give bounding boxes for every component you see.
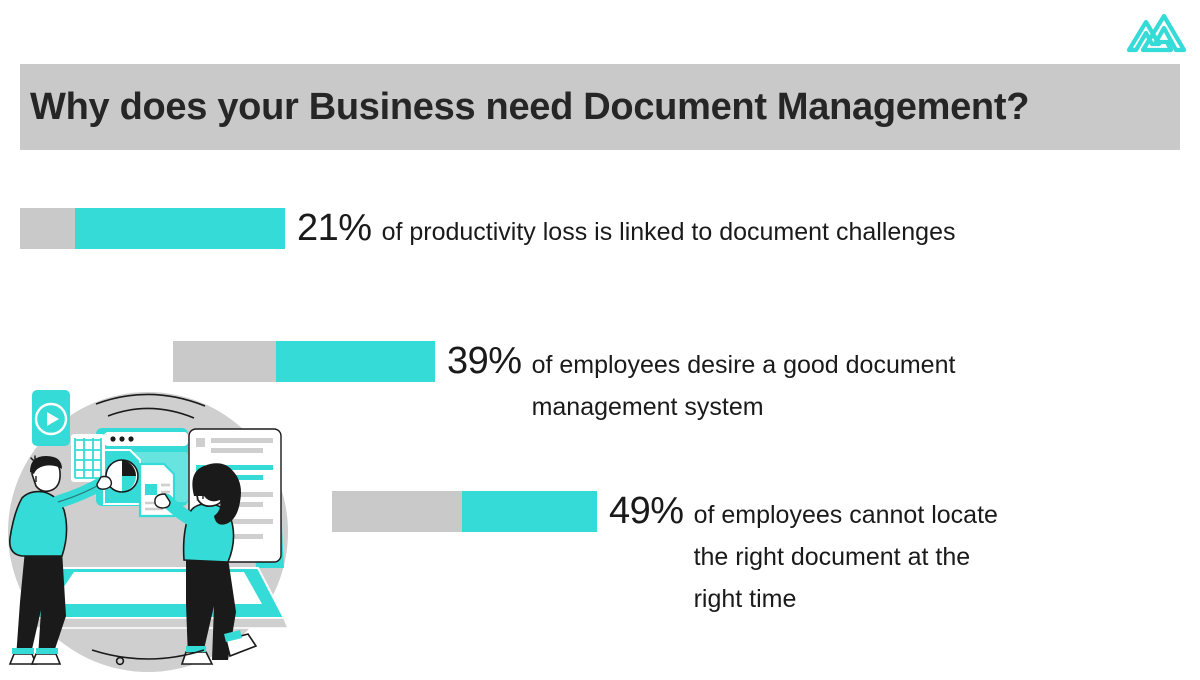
illustration-svg: [0, 372, 300, 675]
page-title: Why does your Business need Document Man…: [20, 86, 1029, 129]
grid-table-icon: [71, 434, 105, 482]
bar-segment-gray: [20, 208, 75, 249]
stat-percent: 39%: [447, 341, 522, 382]
browser-dot: [110, 436, 115, 441]
browser-dot: [128, 436, 133, 441]
team-document-management-illustration: [0, 372, 300, 675]
male-sock-left: [12, 648, 34, 654]
stat-text: 39% of employees desire a good document …: [447, 341, 955, 428]
browser-titlebar: [104, 432, 188, 446]
stat-row: 49% of employees cannot locate the right…: [332, 491, 998, 620]
male-sock-right: [36, 648, 58, 654]
stat-description: of employees desire a good document mana…: [532, 344, 956, 428]
male-legs: [16, 550, 66, 658]
stat-text: 21% of productivity loss is linked to do…: [297, 208, 955, 253]
browser-dot: [119, 436, 124, 441]
bar-segment-gray: [332, 491, 462, 532]
stat-percent: 21%: [297, 208, 372, 249]
list-bullet: [196, 438, 205, 447]
stat-row: 21% of productivity loss is linked to do…: [20, 208, 955, 253]
stat-percent: 49%: [609, 491, 684, 532]
list-line: [211, 438, 273, 443]
list-line: [211, 448, 263, 453]
stat-description: of productivity loss is linked to docume…: [382, 212, 956, 253]
bar-segment-teal: [462, 491, 597, 532]
male-shoe-right: [32, 654, 60, 664]
stat-bar: [332, 491, 597, 532]
bar-segment-teal: [75, 208, 285, 249]
document-thumbnail: [145, 484, 157, 495]
mountain-logo-icon: [1126, 12, 1190, 54]
stat-text: 49% of employees cannot locate the right…: [609, 491, 998, 620]
title-band: Why does your Business need Document Man…: [20, 64, 1180, 150]
female-shoe-left: [182, 652, 212, 664]
stat-bar: [20, 208, 285, 249]
brand-logo: [1126, 12, 1190, 54]
stat-description: of employees cannot locate the right doc…: [694, 494, 998, 620]
